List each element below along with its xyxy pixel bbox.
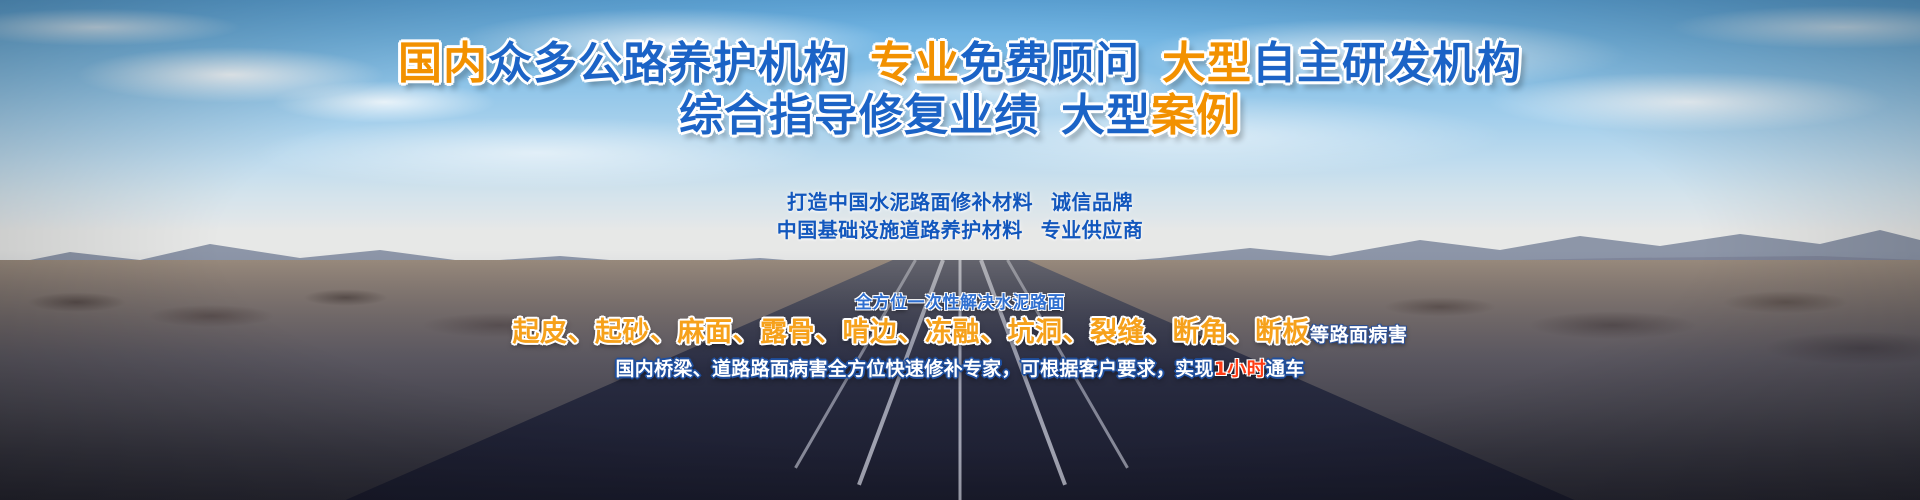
subheading-block: 打造中国水泥路面修补材料诚信品牌 中国基础设施道路养护材料专业供应商 xyxy=(0,188,1920,244)
headline-seg-zonghe: 综合指导修复业绩 xyxy=(679,90,1039,141)
bottom-block: 全方位一次性解决水泥路面 起皮、起砂、麻面、露骨、啃边、冻融、坑洞、裂缝、断角、… xyxy=(0,292,1920,384)
one-hour-highlight: 1小时 xyxy=(1214,358,1266,380)
subheading-line-1-main: 打造中国水泥路面修补材料 xyxy=(787,190,1033,214)
defect-list: 起皮、起砂、麻面、露骨、啃边、冻融、坑洞、裂缝、断角、断板 xyxy=(512,317,1310,348)
headline-seg-guonei: 国内 xyxy=(398,38,488,89)
bottom-line-3: 国内桥梁、道路路面病害全方位快速修补专家，可根据客户要求，实现1小时通车 xyxy=(0,354,1920,384)
headline-block: 国内众多公路养护机构专业免费顾问大型自主研发机构 综合指导修复业绩大型案例 xyxy=(0,38,1920,142)
subheading-line-1-tag: 诚信品牌 xyxy=(1051,190,1133,214)
headline-line-1: 国内众多公路养护机构专业免费顾问大型自主研发机构 xyxy=(0,38,1920,90)
headline-seg-daxing: 大型 xyxy=(1162,38,1252,89)
subheading-line-2-main: 中国基础设施道路养护材料 xyxy=(777,218,1023,242)
promo-banner: 国内众多公路养护机构专业免费顾问大型自主研发机构 综合指导修复业绩大型案例 打造… xyxy=(0,0,1920,500)
defect-list-suffix: 等路面病害 xyxy=(1310,324,1408,346)
subheading-line-2-tag: 专业供应商 xyxy=(1041,218,1144,242)
headline-seg-daxing-2: 大型 xyxy=(1061,90,1151,141)
headline-seg-zhongduo: 众多公路养护机构 xyxy=(488,38,848,89)
headline-seg-zhuanye: 专业 xyxy=(870,38,960,89)
bottom-line-3-tail: 通车 xyxy=(1266,358,1305,380)
bottom-line-2: 起皮、起砂、麻面、露骨、啃边、冻融、坑洞、裂缝、断角、断板等路面病害 xyxy=(0,314,1920,354)
bottom-line-1: 全方位一次性解决水泥路面 xyxy=(0,292,1920,314)
headline-seg-mianfei: 免费顾问 xyxy=(960,38,1140,89)
bottom-line-3-lead: 国内桥梁、道路路面病害全方位快速修补专家，可根据客户要求，实现 xyxy=(615,358,1213,380)
banner-content: 国内众多公路养护机构专业免费顾问大型自主研发机构 综合指导修复业绩大型案例 打造… xyxy=(0,0,1920,500)
headline-line-2: 综合指导修复业绩大型案例 xyxy=(0,90,1920,142)
subheading-line-1: 打造中国水泥路面修补材料诚信品牌 xyxy=(0,188,1920,216)
subheading-line-2: 中国基础设施道路养护材料专业供应商 xyxy=(0,216,1920,244)
headline-seg-anli: 案例 xyxy=(1151,90,1241,141)
headline-seg-zizhu: 自主研发机构 xyxy=(1252,38,1522,89)
